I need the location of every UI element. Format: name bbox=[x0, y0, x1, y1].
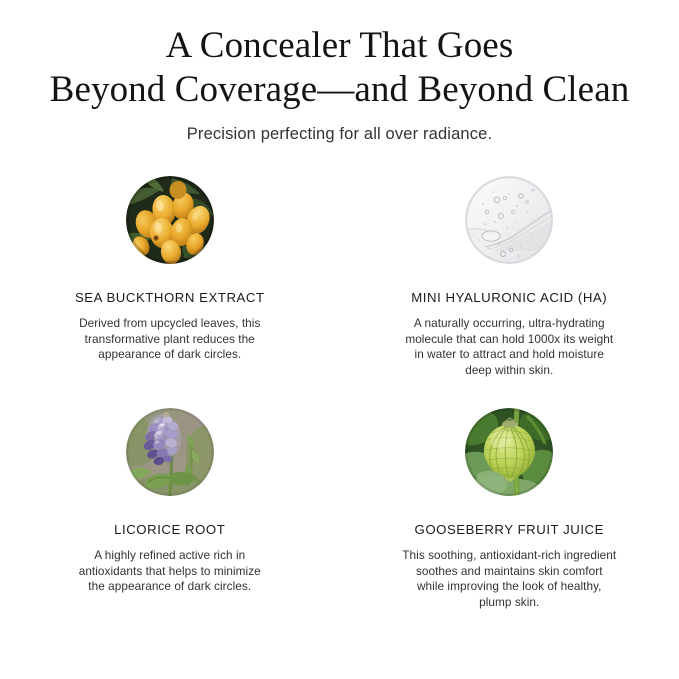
gooseberry-husk-photo-icon bbox=[465, 408, 553, 496]
description-line: the appearance of dark circles. bbox=[79, 579, 261, 595]
licorice-thumbnail-wrap bbox=[126, 408, 214, 496]
description-line: antioxidants that helps to minimize bbox=[79, 564, 261, 580]
ingredient-card-gooseberry-fruit-juice: GOOSEBERRY FRUIT JUICE This soothing, an… bbox=[340, 408, 679, 610]
description-line: A naturally occurring, ultra-hydrating bbox=[405, 316, 613, 332]
ingredient-description: A highly refined active rich in antioxid… bbox=[79, 548, 261, 595]
ingredient-description: This soothing, antioxidant-rich ingredie… bbox=[402, 548, 616, 610]
ingredient-card-mini-hyaluronic-acid: MINI HYALURONIC ACID (HA) A naturally oc… bbox=[340, 168, 679, 408]
ingredient-benefits-page: A Concealer That Goes Beyond Coverage—an… bbox=[0, 0, 679, 679]
description-line: This soothing, antioxidant-rich ingredie… bbox=[402, 548, 616, 564]
description-line: deep within skin. bbox=[405, 363, 613, 379]
description-line: soothes and maintains skin comfort bbox=[402, 564, 616, 580]
ingredient-description: A naturally occurring, ultra-hydrating m… bbox=[405, 316, 613, 378]
page-title-line-2: Beyond Coverage—and Beyond Clean bbox=[30, 68, 649, 112]
page-title-line-1: A Concealer That Goes bbox=[30, 24, 649, 68]
description-line: while improving the look of healthy, bbox=[402, 579, 616, 595]
sea-buckthorn-thumbnail-wrap bbox=[126, 176, 214, 264]
description-line: transformative plant reduces the bbox=[79, 332, 260, 348]
ingredient-title: SEA BUCKTHORN EXTRACT bbox=[75, 290, 265, 305]
ingredient-title: GOOSEBERRY FRUIT JUICE bbox=[415, 522, 604, 537]
description-line: appearance of dark circles. bbox=[79, 347, 260, 363]
description-line: plump skin. bbox=[402, 595, 616, 611]
page-title: A Concealer That Goes Beyond Coverage—an… bbox=[0, 24, 679, 111]
description-line: molecule that can hold 1000x its weight bbox=[405, 332, 613, 348]
ingredient-title: MINI HYALURONIC ACID (HA) bbox=[411, 290, 607, 305]
hyaluronic-gel-texture-photo-icon bbox=[465, 176, 553, 264]
gooseberry-thumbnail-wrap bbox=[465, 408, 553, 496]
ingredient-title: LICORICE ROOT bbox=[114, 522, 225, 537]
ingredient-card-sea-buckthorn-extract: SEA BUCKTHORN EXTRACT Derived from upcyc… bbox=[0, 168, 340, 408]
ingredient-description: Derived from upcycled leaves, this trans… bbox=[79, 316, 260, 363]
description-line: Derived from upcycled leaves, this bbox=[79, 316, 260, 332]
hyaluronic-thumbnail-wrap bbox=[465, 176, 553, 264]
ingredient-grid: SEA BUCKTHORN EXTRACT Derived from upcyc… bbox=[0, 168, 679, 610]
licorice-root-flower-photo-icon bbox=[126, 408, 214, 496]
ingredient-card-licorice-root: LICORICE ROOT A highly refined active ri… bbox=[0, 408, 340, 610]
description-line: in water to attract and hold moisture bbox=[405, 347, 613, 363]
page-header: A Concealer That Goes Beyond Coverage—an… bbox=[0, 0, 679, 144]
sea-buckthorn-berries-photo-icon bbox=[126, 176, 214, 264]
description-line: A highly refined active rich in bbox=[79, 548, 261, 564]
page-subtitle: Precision perfecting for all over radian… bbox=[0, 111, 679, 144]
